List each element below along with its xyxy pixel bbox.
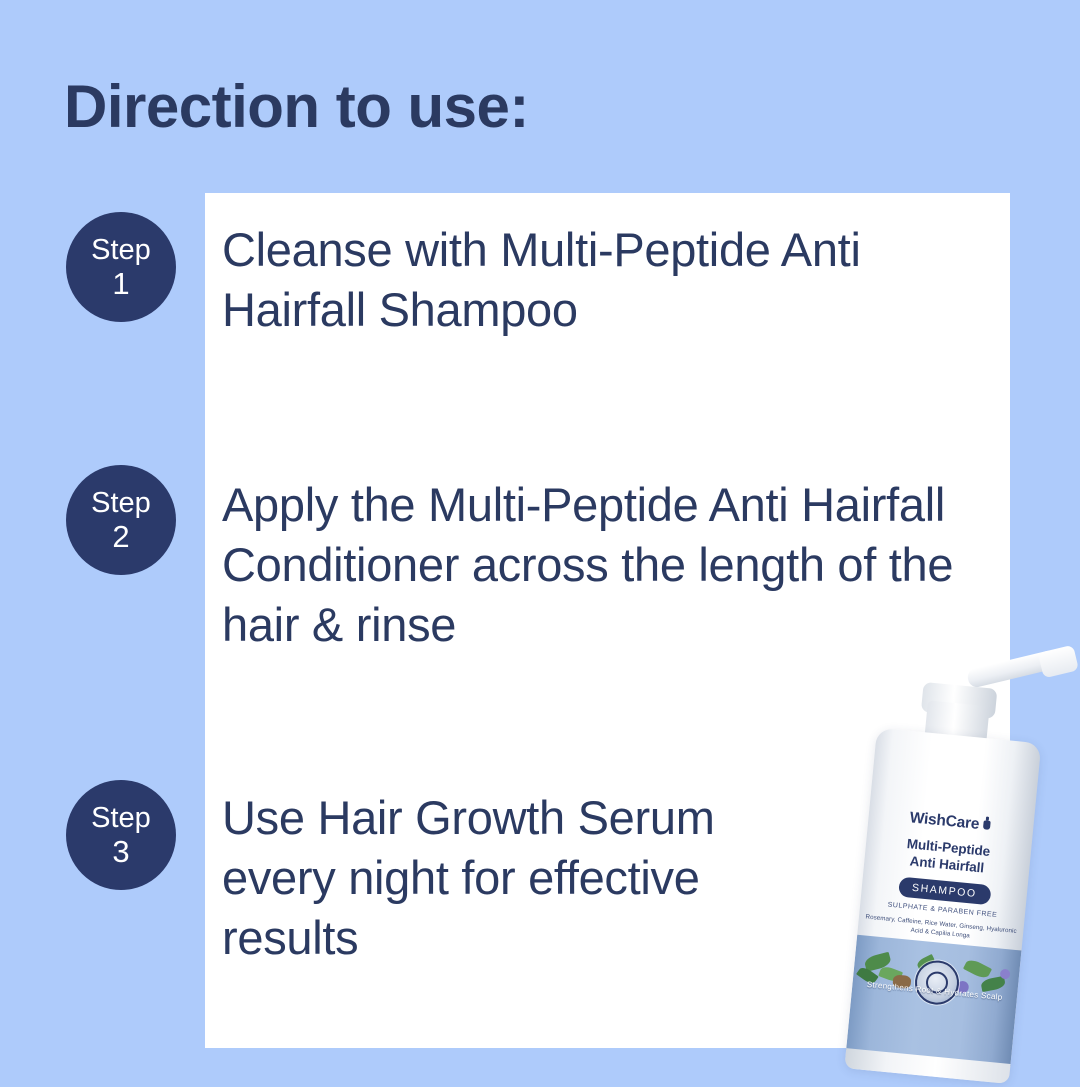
product-name: Multi-Peptide Anti Hairfall bbox=[864, 832, 1031, 881]
step-badge-word: Step bbox=[91, 804, 151, 833]
step-badge-2: Step 2 bbox=[66, 465, 176, 575]
step-badge-number: 3 bbox=[112, 836, 129, 867]
step-text-1: Cleanse with Multi-Peptide Anti Hairfall… bbox=[222, 220, 982, 340]
product-image: WishCare Multi-Peptide Anti Hairfall SHA… bbox=[826, 636, 1080, 1080]
step-badge-1: Step 1 bbox=[66, 212, 176, 322]
direction-to-use-poster: Direction to use: Step 1 Cleanse with Mu… bbox=[0, 0, 1080, 1080]
step-text-3: Use Hair Growth Serum every night for ef… bbox=[222, 788, 822, 968]
herb-leaf-icon bbox=[963, 957, 992, 981]
product-label: WishCare Multi-Peptide Anti Hairfall SHA… bbox=[860, 805, 1034, 922]
pump-head-icon bbox=[1038, 645, 1079, 679]
step-badge-3: Step 3 bbox=[66, 780, 176, 890]
brand-logo: WishCare bbox=[909, 809, 993, 835]
step-badge-word: Step bbox=[91, 236, 151, 265]
step-badge-number: 1 bbox=[112, 268, 129, 299]
step-badge-number: 2 bbox=[112, 521, 129, 552]
step-badge-word: Step bbox=[91, 489, 151, 518]
brand-name: WishCare bbox=[909, 809, 980, 833]
shampoo-bottle: WishCare Multi-Peptide Anti Hairfall SHA… bbox=[844, 660, 1048, 1084]
herb-flower-icon bbox=[1000, 969, 1011, 980]
pump-nozzle-icon bbox=[966, 649, 1060, 689]
bottle-body: WishCare Multi-Peptide Anti Hairfall SHA… bbox=[844, 728, 1041, 1084]
brand-leaf-icon bbox=[981, 818, 993, 831]
step-text-2: Apply the Multi-Peptide Anti Hairfall Co… bbox=[222, 475, 982, 655]
product-type-badge: SHAMPOO bbox=[898, 877, 991, 906]
